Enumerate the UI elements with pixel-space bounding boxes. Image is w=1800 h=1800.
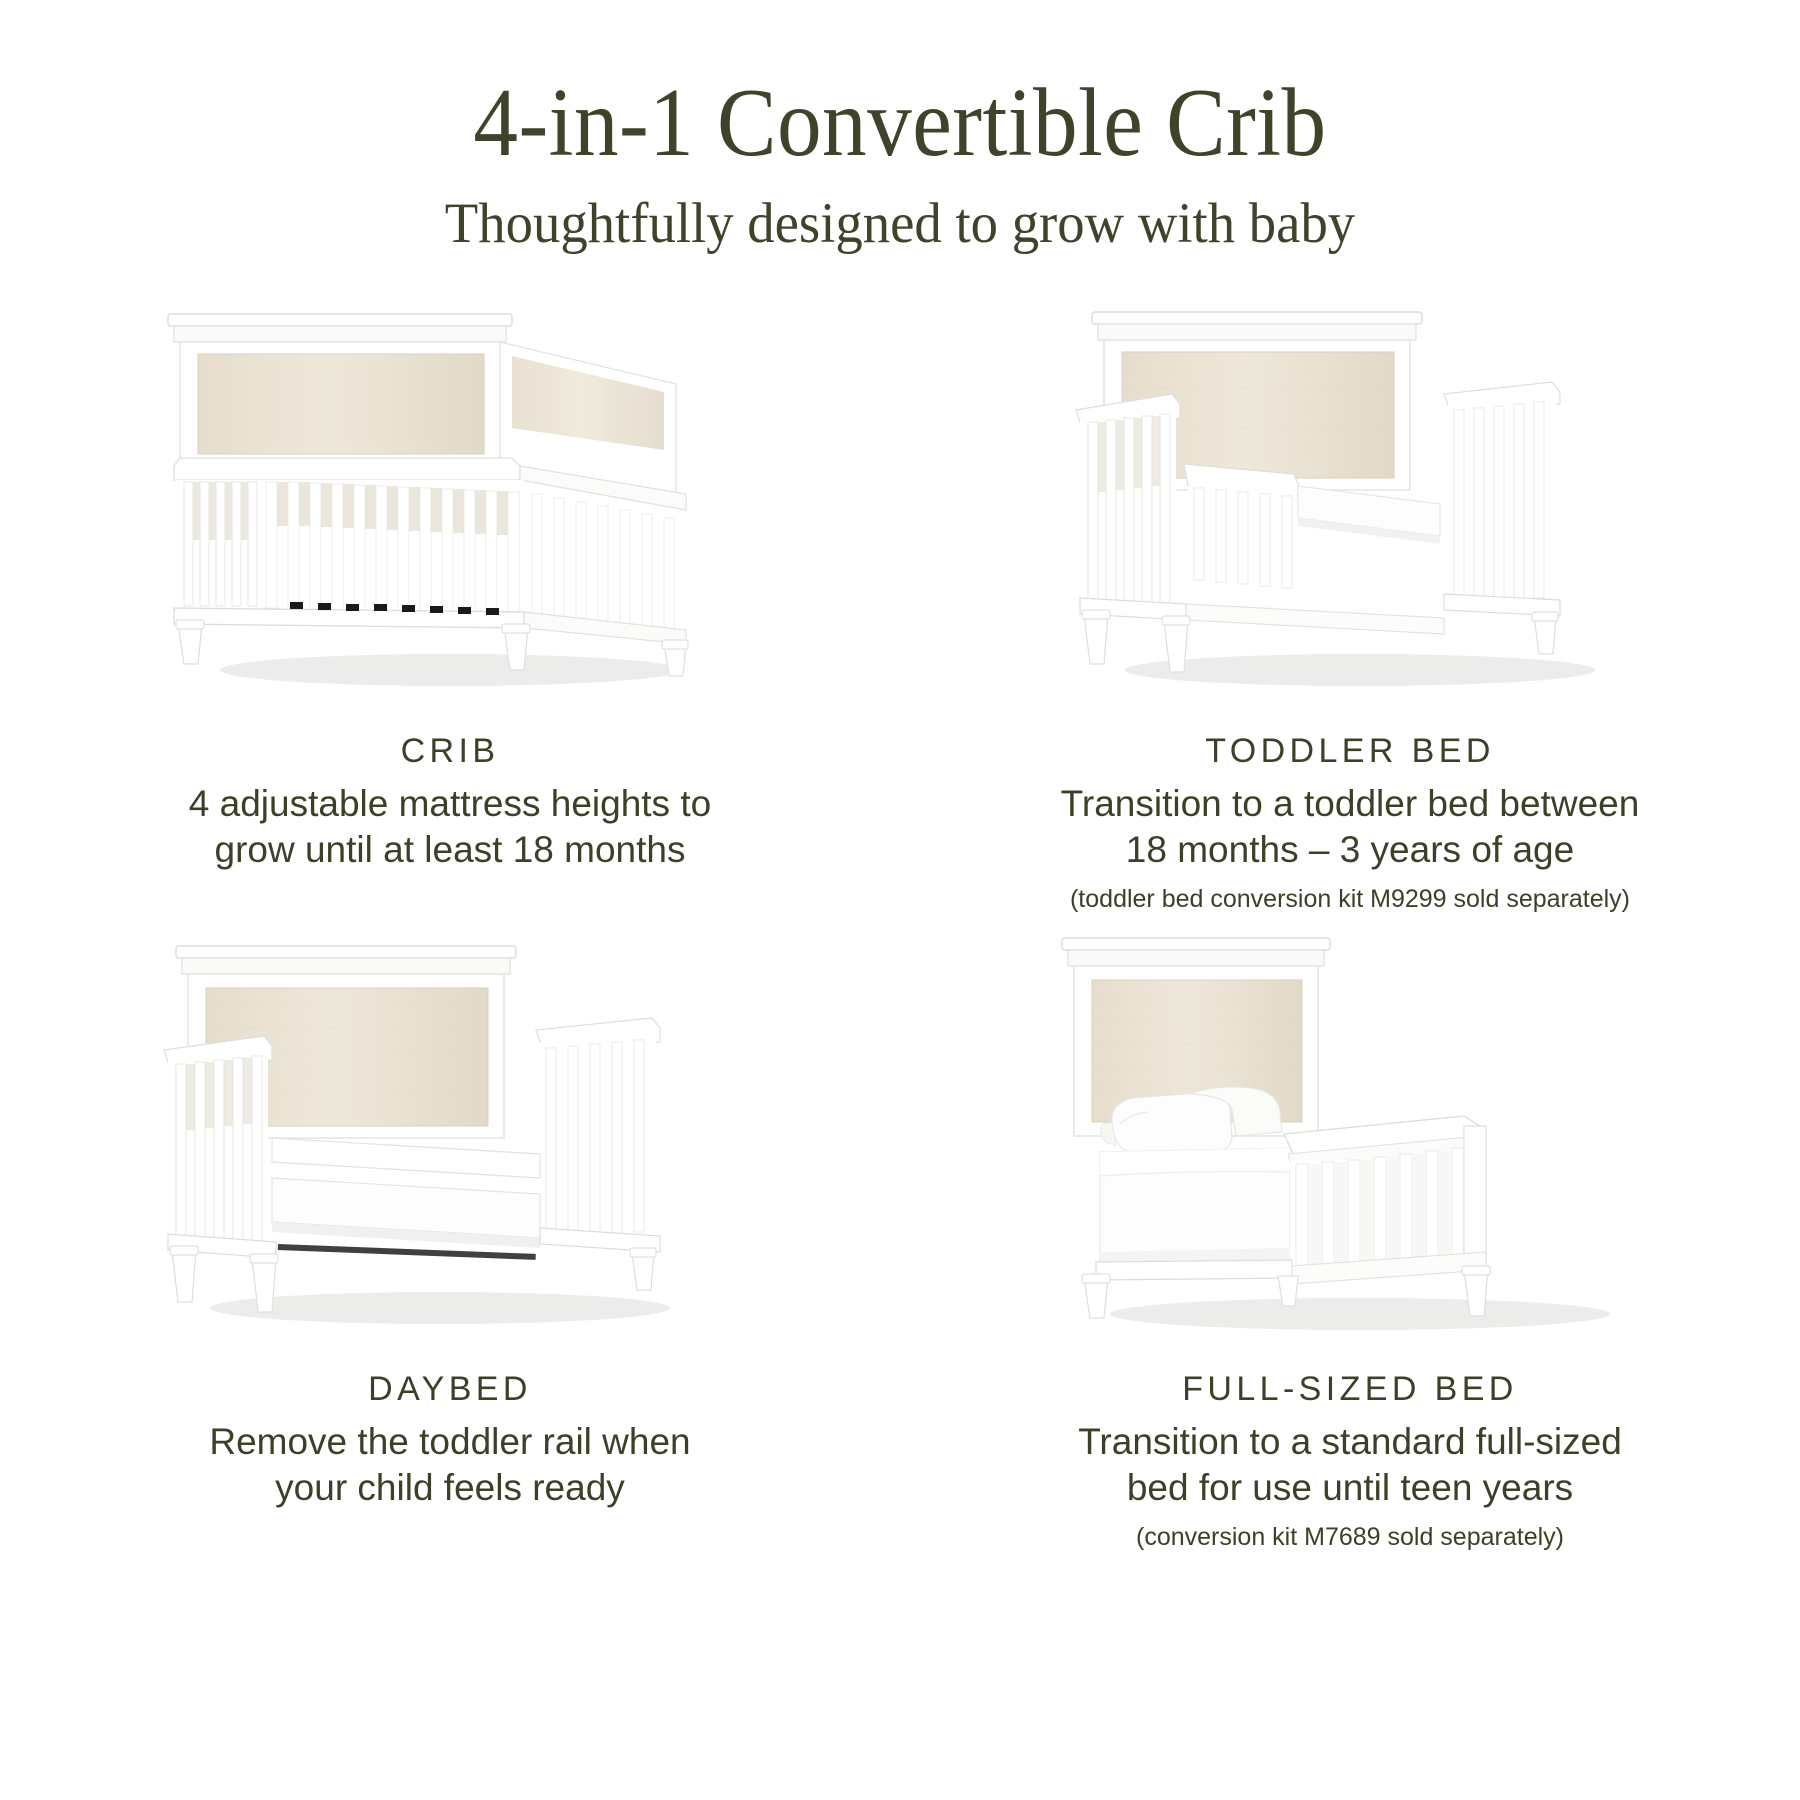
- toddler-bed-illustration: [1040, 298, 1660, 718]
- header: 4-in-1 Convertible Crib Thoughtfully des…: [0, 0, 1800, 256]
- caption-line: Transition to a toddler bed between: [1061, 781, 1640, 827]
- caption-line: grow until at least 18 months: [189, 827, 711, 873]
- caption-line: Remove the toddler rail when: [209, 1419, 690, 1465]
- caption-line: bed for use until teen years: [1078, 1465, 1622, 1511]
- panel-daybed: DAYBED Remove the toddler rail when your…: [0, 926, 900, 1554]
- caption-note-toddler-bed: (toddler bed conversion kit M9299 sold s…: [1070, 883, 1630, 916]
- caption-note-full-sized-bed: (conversion kit M7689 sold separately): [1136, 1521, 1564, 1554]
- page-title: 4-in-1 Convertible Crib: [72, 74, 1728, 171]
- caption-body-crib: 4 adjustable mattress heights to grow un…: [189, 781, 711, 874]
- caption-title-crib: CRIB: [401, 732, 500, 771]
- caption-line: 4 adjustable mattress heights to: [189, 781, 711, 827]
- caption-line: 18 months – 3 years of age: [1061, 827, 1640, 873]
- toddler-bed-image: [940, 298, 1760, 718]
- caption-body-toddler-bed: Transition to a toddler bed between 18 m…: [1061, 781, 1640, 874]
- caption-body-daybed: Remove the toddler rail when your child …: [209, 1419, 690, 1512]
- panel-toddler-bed: TODDLER BED Transition to a toddler bed …: [900, 298, 1800, 916]
- panel-full-sized-bed: FULL-SIZED BED Transition to a standard …: [900, 926, 1800, 1554]
- caption-body-full-sized-bed: Transition to a standard full-sized bed …: [1078, 1419, 1622, 1512]
- crib-image: [40, 298, 860, 718]
- daybed-image: [40, 926, 860, 1356]
- page-subtitle: Thoughtfully designed to grow with baby: [36, 193, 1764, 256]
- caption-line: Transition to a standard full-sized: [1078, 1419, 1622, 1465]
- daybed-illustration: [140, 926, 760, 1356]
- infographic-page: 4-in-1 Convertible Crib Thoughtfully des…: [0, 0, 1800, 1800]
- caption-title-full-sized-bed: FULL-SIZED BED: [1182, 1370, 1518, 1409]
- caption-title-daybed: DAYBED: [368, 1370, 532, 1409]
- caption-line: your child feels ready: [209, 1465, 690, 1511]
- crib-illustration: [140, 298, 760, 718]
- caption-title-toddler-bed: TODDLER BED: [1205, 732, 1495, 771]
- panel-crib: CRIB 4 adjustable mattress heights to gr…: [0, 298, 900, 916]
- full-sized-bed-image: [940, 926, 1760, 1356]
- full-sized-bed-illustration: [1040, 926, 1660, 1356]
- configuration-grid: CRIB 4 adjustable mattress heights to gr…: [0, 298, 1800, 1554]
